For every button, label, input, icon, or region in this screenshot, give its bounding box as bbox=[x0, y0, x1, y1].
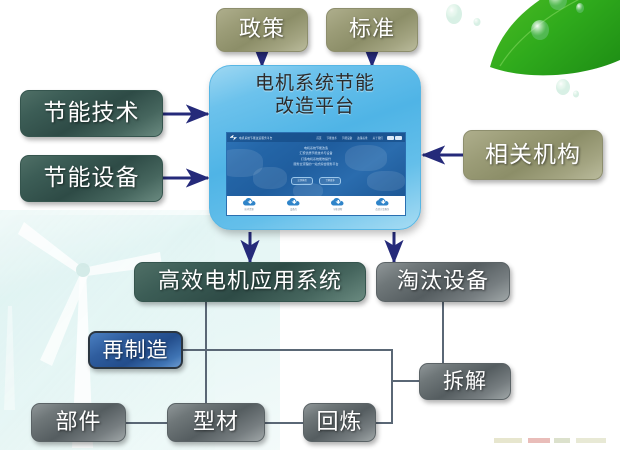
website-login-buttons[interactable] bbox=[387, 136, 402, 140]
wire-remanufacture-to-dismantle bbox=[183, 350, 419, 381]
website-brand: 电机系统节能改造服务平台 bbox=[239, 136, 273, 140]
corner-watermark bbox=[494, 435, 612, 446]
wire-resmelt-to-junction bbox=[376, 381, 392, 423]
website-footer-label: 设备库 bbox=[290, 207, 297, 211]
node-components-label: 部件 bbox=[55, 411, 101, 434]
platform-title: 电机系统节能 改造平台 bbox=[210, 72, 420, 118]
website-menu-item[interactable]: 政策标准 bbox=[357, 136, 367, 140]
node-related-institutions[interactable]: 相关机构 bbox=[463, 130, 603, 180]
node-related-institutions-label: 相关机构 bbox=[485, 143, 581, 167]
website-footer-label: 技术资源 bbox=[245, 207, 254, 211]
node-high-efficiency-motor-system[interactable]: 高效电机应用系统 bbox=[134, 262, 366, 302]
website-footer-label: 改造方案服务 bbox=[376, 207, 390, 211]
node-dismantle-label: 拆解 bbox=[443, 370, 487, 392]
node-profiles-label: 型材 bbox=[193, 411, 239, 434]
node-obsolete-equipment-label: 淘汰设备 bbox=[397, 270, 489, 293]
website-cta-secondary[interactable]: 了解更多 bbox=[319, 177, 341, 185]
website-headline-line: 打造电机系统能效提升 bbox=[227, 158, 405, 162]
website-preview[interactable]: 电机系统节能改造服务平台 首页 节能技术 节能设备 政策标准 关于我们 电机系统… bbox=[226, 132, 406, 216]
platform-title-line1: 电机系统节能 bbox=[210, 72, 420, 95]
website-headline: 电机系统节能改造 汇聚优质节能技术与设备 打造电机系统能效提升 服务全流程的一站… bbox=[227, 147, 405, 168]
cloud-icon bbox=[376, 198, 389, 206]
website-headline-line: 服务全流程的一站式综合服务平台 bbox=[227, 163, 405, 167]
website-navbar: 电机系统节能改造服务平台 首页 节能技术 节能设备 政策标准 关于我们 bbox=[227, 133, 405, 142]
website-headline-line: 汇聚优质节能技术与设备 bbox=[227, 152, 405, 156]
cloud-icon bbox=[243, 198, 256, 206]
node-remanufacture-label: 再制造 bbox=[103, 339, 169, 361]
website-menu-item[interactable]: 节能设备 bbox=[342, 136, 352, 140]
website-footer-label: 节能诊断 bbox=[333, 207, 342, 211]
website-cta-buttons: 立即体验 了解更多 bbox=[227, 177, 405, 185]
node-profiles[interactable]: 型材 bbox=[167, 403, 265, 442]
website-cta-primary[interactable]: 立即体验 bbox=[291, 177, 313, 185]
diagram-canvas: 政策 标准 节能技术 节能设备 相关机构 电机系统节能 改造平台 bbox=[0, 0, 620, 450]
cloud-icon bbox=[331, 198, 344, 206]
website-menu-item[interactable]: 首页 bbox=[316, 136, 321, 140]
node-policy-label: 政策 bbox=[239, 18, 285, 41]
platform-title-line2: 改造平台 bbox=[210, 95, 420, 118]
website-menu-item[interactable]: 节能技术 bbox=[327, 136, 337, 140]
node-dismantle[interactable]: 拆解 bbox=[419, 363, 511, 400]
node-standard[interactable]: 标准 bbox=[326, 8, 418, 52]
website-menu-item[interactable]: 关于我们 bbox=[373, 136, 383, 140]
website-register-button[interactable] bbox=[395, 136, 402, 140]
node-components[interactable]: 部件 bbox=[31, 403, 126, 442]
green-leaf-icon bbox=[430, 0, 620, 117]
node-energy-saving-equipment-label: 节能设备 bbox=[44, 166, 140, 190]
node-resmelt[interactable]: 回炼 bbox=[303, 403, 376, 442]
node-energy-saving-equipment[interactable]: 节能设备 bbox=[20, 155, 163, 202]
node-policy[interactable]: 政策 bbox=[216, 8, 308, 52]
website-footer: 技术资源 设备库 节能诊断 bbox=[227, 196, 405, 216]
website-login-button[interactable] bbox=[387, 136, 394, 140]
node-remanufacture[interactable]: 再制造 bbox=[88, 331, 183, 369]
website-footer-item[interactable]: 改造方案服务 bbox=[376, 198, 390, 211]
website-footer-item[interactable]: 技术资源 bbox=[243, 198, 256, 211]
website-footer-item[interactable]: 节能诊断 bbox=[331, 198, 344, 211]
website-footer-item[interactable]: 设备库 bbox=[287, 198, 300, 211]
cloud-icon bbox=[287, 198, 300, 206]
node-energy-saving-technology[interactable]: 节能技术 bbox=[20, 90, 163, 137]
node-obsolete-equipment[interactable]: 淘汰设备 bbox=[376, 262, 510, 302]
website-menu: 首页 节能技术 节能设备 政策标准 关于我们 bbox=[316, 136, 383, 140]
node-high-efficiency-motor-system-label: 高效电机应用系统 bbox=[158, 270, 342, 293]
node-energy-saving-technology-label: 节能技术 bbox=[44, 101, 140, 125]
node-standard-label: 标准 bbox=[349, 18, 395, 41]
website-logo-icon bbox=[230, 135, 237, 141]
website-hero: 电机系统节能改造服务平台 首页 节能技术 节能设备 政策标准 关于我们 电机系统… bbox=[227, 133, 405, 196]
node-resmelt-label: 回炼 bbox=[316, 411, 362, 434]
node-platform[interactable]: 电机系统节能 改造平台 电机系统节能改造服务平台 首页 节能技术 节能设备 政策… bbox=[209, 65, 421, 230]
